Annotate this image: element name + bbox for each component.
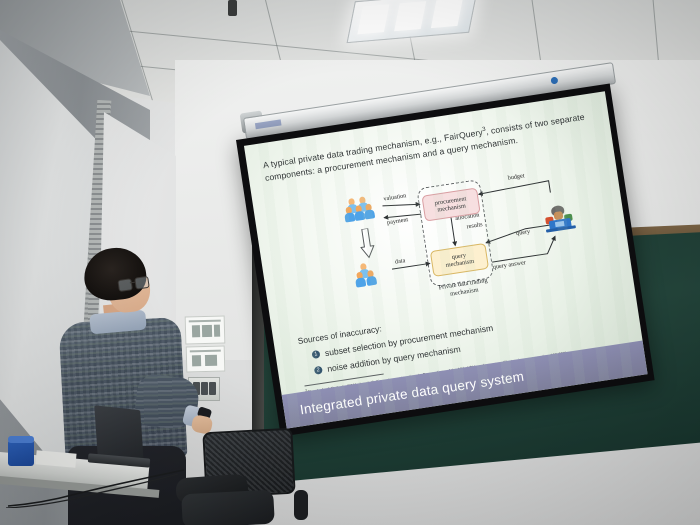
query-line2: mechanism <box>445 258 474 269</box>
chair-armrest <box>294 490 308 520</box>
blue-cup-lid <box>8 436 34 443</box>
blue-cup <box>8 440 34 466</box>
slide-banner-title: Integrated private data query system <box>299 368 525 417</box>
chair-seat <box>181 490 275 525</box>
open-laptop[interactable] <box>96 408 150 464</box>
classroom-presentation-photo: A typical private data trading mechanism… <box>0 0 700 525</box>
slide: A typical private data trading mechanism… <box>244 91 648 428</box>
mesh-back-office-chair[interactable] <box>176 430 296 525</box>
number-bullet-icon: 2 <box>314 366 323 375</box>
data-analyst-with-laptop-icon <box>541 203 579 238</box>
projection-screen-frame: A typical private data trading mechanism… <box>236 83 655 436</box>
projection-screen-surface: A typical private data trading mechanism… <box>244 91 648 428</box>
private-data-trading-diagram: valuation payment data allocation result… <box>341 161 606 315</box>
number-bullet-icon: 1 <box>311 350 320 359</box>
power-cable <box>6 468 186 508</box>
